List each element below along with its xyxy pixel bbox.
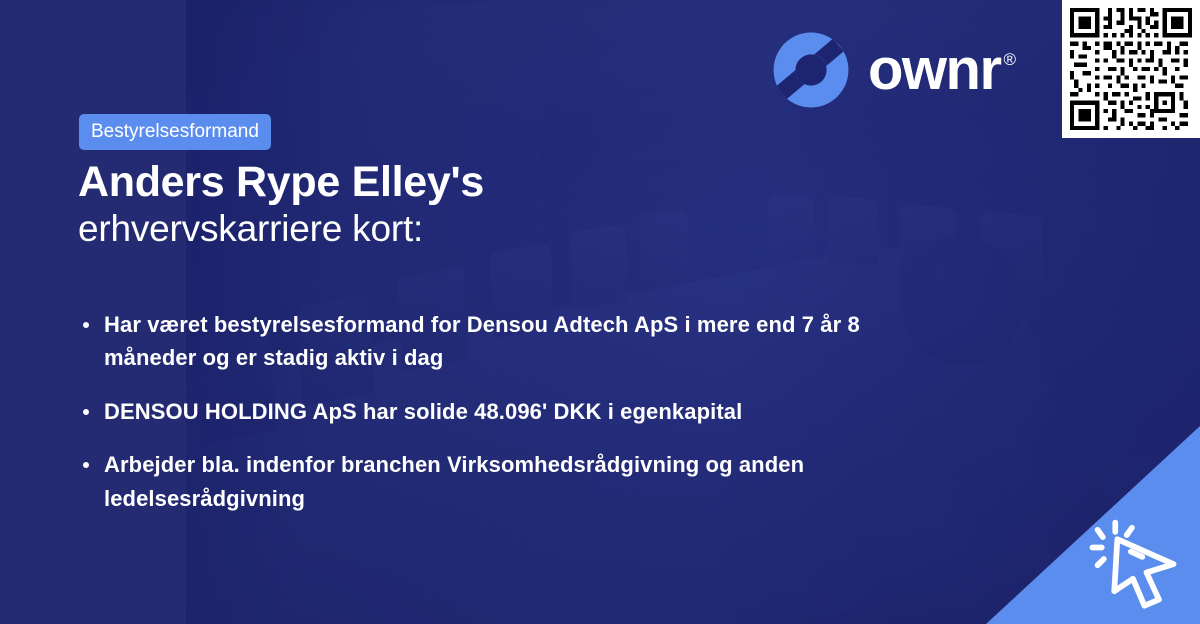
list-item: Har været bestyrelsesformand for Densou … (78, 308, 878, 375)
qr-code-panel[interactable] (1062, 0, 1200, 138)
ownr-wordmark: ownr ® (868, 41, 1016, 99)
ownr-logo: ownr ® (772, 31, 1016, 109)
ownr-wordmark-text: ownr (868, 41, 1001, 99)
list-item: DENSOU HOLDING ApS har solide 48.096' DK… (78, 395, 878, 428)
career-highlights-list: Har været bestyrelsesformand for Densou … (78, 308, 878, 515)
registered-trademark-icon: ® (1004, 51, 1017, 68)
role-badge: Bestyrelsesformand (79, 114, 271, 150)
click-cursor-icon (1082, 508, 1186, 612)
page-subtitle: erhvervskarriere kort: (78, 208, 423, 251)
page-title: Anders Rype Elley's (78, 158, 484, 206)
qr-code-icon[interactable] (1070, 8, 1192, 130)
ownr-profile-card: ownr ® (0, 0, 1200, 624)
list-item: Arbejder bla. indenfor branchen Virksomh… (78, 448, 878, 515)
ownr-circle-logo-icon (772, 31, 850, 109)
